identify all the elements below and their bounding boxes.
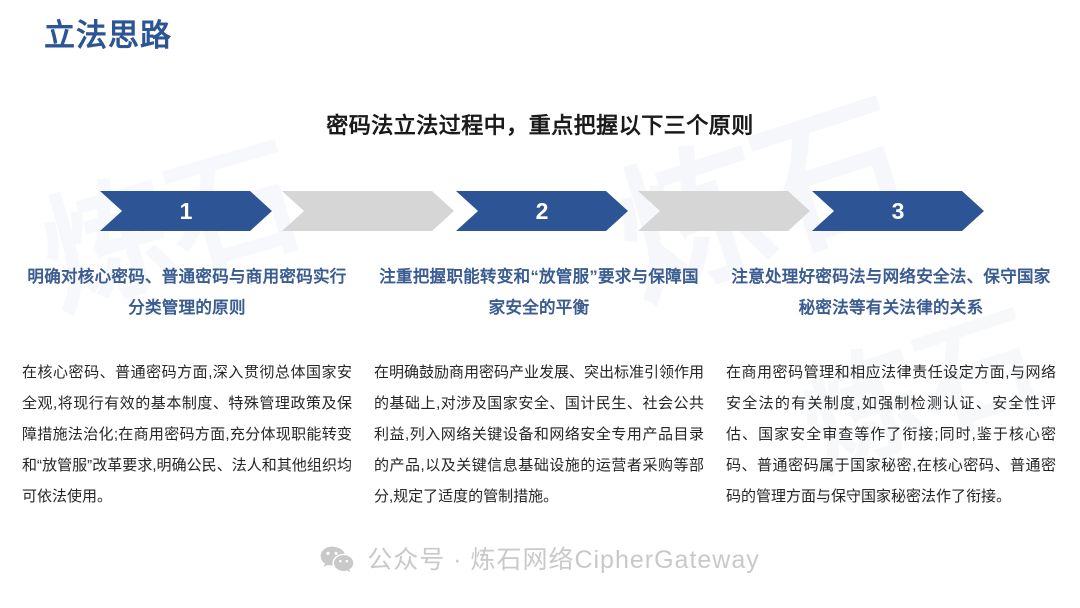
footer-text: 公众号 · 炼石网络CipherGateway	[367, 548, 760, 573]
principle-column-2: 注重把握职能转变和“放管服”要求与保障国家安全的平衡 在明确鼓励商用密码产业发展…	[374, 262, 704, 512]
principle-3-heading: 注意处理好密码法与网络安全法、保守国家秘密法等有关法律的关系	[726, 262, 1056, 323]
slide-subtitle: 密码法立法过程中，重点把握以下三个原则	[0, 108, 1080, 140]
slide-root: 炼石 炼石 炼石 立法思路 密码法立法过程中，重点把握以下三个原则 1 2 3 …	[0, 0, 1080, 608]
chevron-step-1-number: 1	[180, 200, 193, 223]
wechat-icon	[320, 545, 354, 575]
chevron-spacer-2	[638, 191, 810, 231]
chevron-spacer-1	[282, 191, 454, 231]
chevron-step-2-number: 2	[536, 200, 549, 223]
principle-2-body: 在明确鼓励商用密码产业发展、突出标准引领作用的基础上,对涉及国家安全、国计民生、…	[374, 357, 704, 512]
principle-1-heading: 明确对核心密码、普通密码与商用密码实行分类管理的原则	[22, 262, 352, 323]
principle-1-body: 在核心密码、普通密码方面,深入贯彻总体国家安全观,将现行有效的基本制度、特殊管理…	[22, 357, 352, 512]
principle-column-1: 明确对核心密码、普通密码与商用密码实行分类管理的原则 在核心密码、普通密码方面,…	[22, 262, 352, 512]
page-title: 立法思路	[44, 16, 172, 56]
chevron-step-3: 3	[812, 191, 984, 231]
chevron-step-1: 1	[100, 191, 272, 231]
footer-watermark: 公众号 · 炼石网络CipherGateway	[0, 545, 1080, 575]
principle-column-3: 注意处理好密码法与网络安全法、保守国家秘密法等有关法律的关系 在商用密码管理和相…	[726, 262, 1056, 512]
principle-3-body: 在商用密码管理和相应法律责任设定方面,与网络安全法的有关制度,如强制检测认证、安…	[726, 357, 1056, 512]
principle-2-heading: 注重把握职能转变和“放管服”要求与保障国家安全的平衡	[374, 262, 704, 323]
principle-columns: 明确对核心密码、普通密码与商用密码实行分类管理的原则 在核心密码、普通密码方面,…	[0, 262, 1080, 552]
chevron-step-2: 2	[456, 191, 628, 231]
chevron-step-3-number: 3	[892, 200, 905, 223]
chevron-step-band: 1 2 3	[0, 191, 1080, 233]
